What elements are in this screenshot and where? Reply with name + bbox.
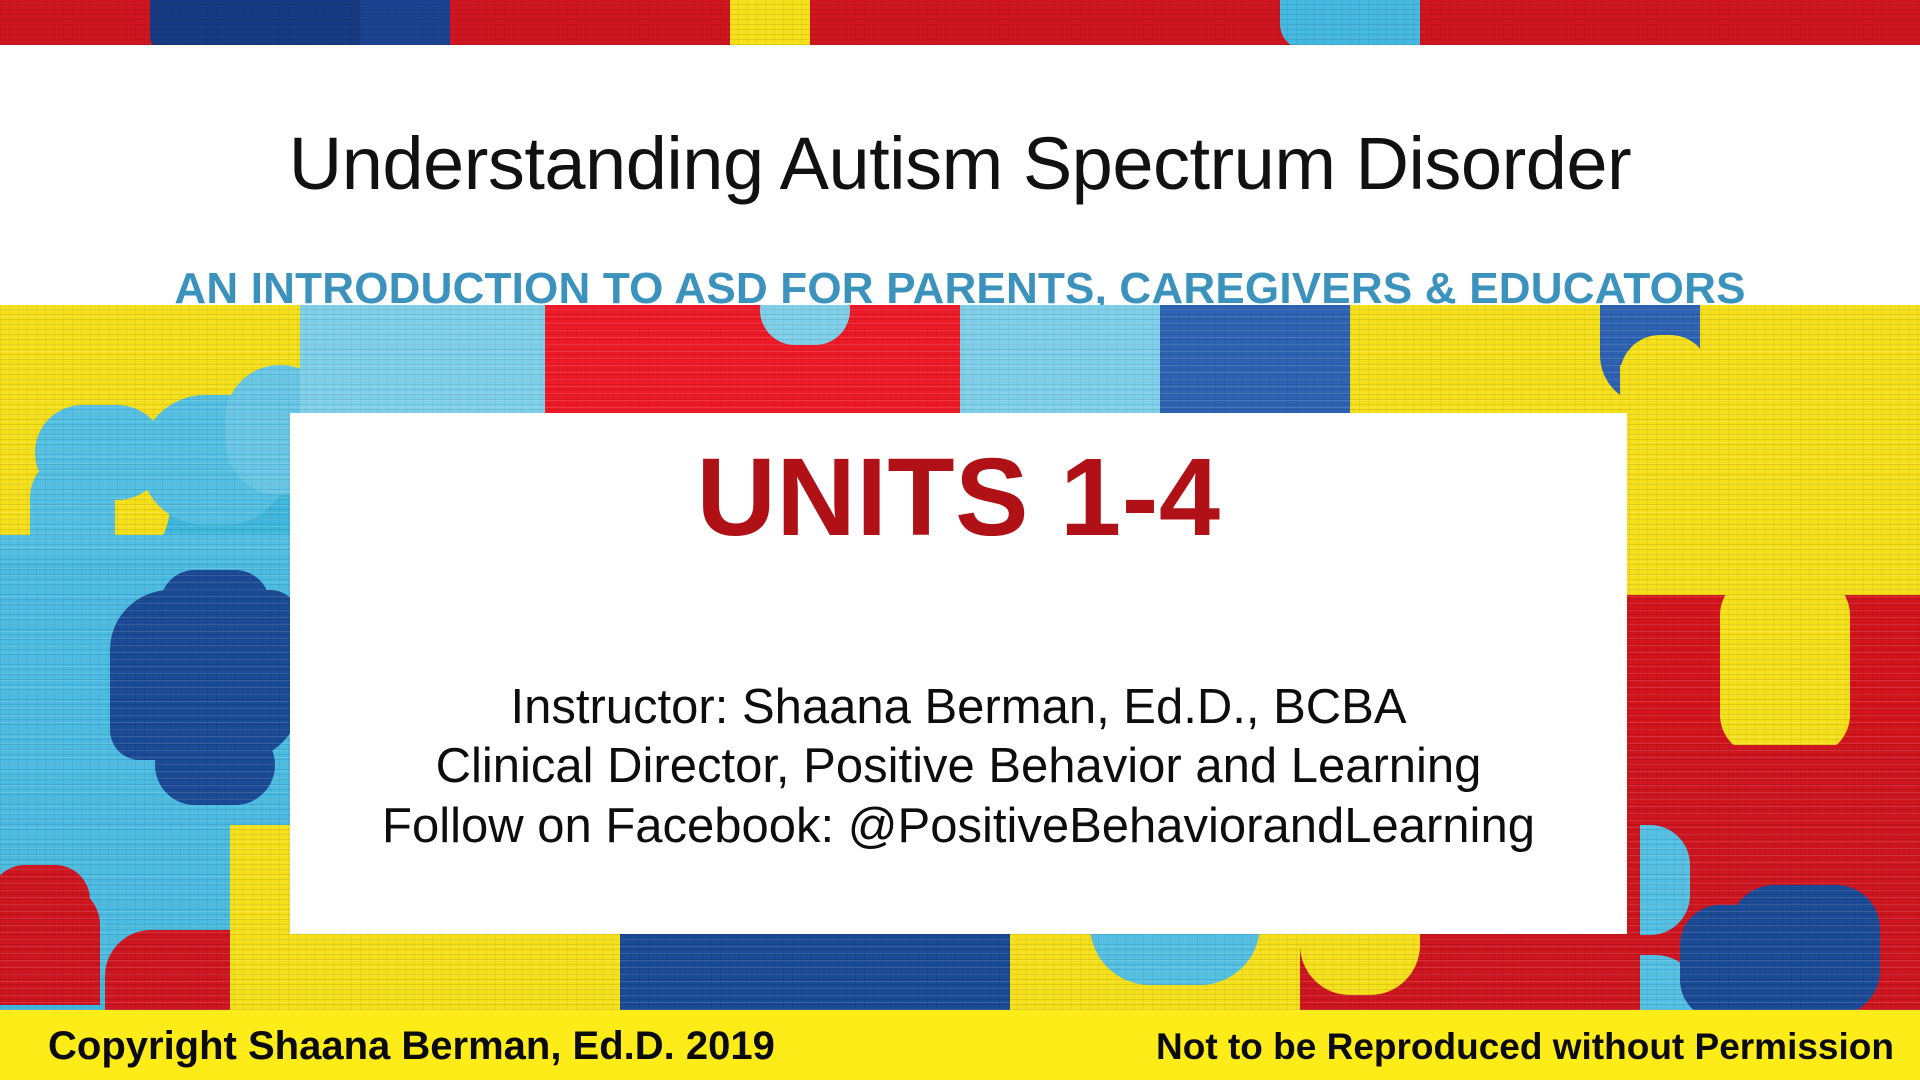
presentation-slide: Understanding Autism Spectrum Disorder A… xyxy=(0,0,1920,1080)
puzzle-piece-yellow xyxy=(1350,305,1630,415)
puzzle-piece-lightcyan xyxy=(300,305,560,415)
puzzle-background: UNITS 1-4 Instructor: Shaana Berman, Ed.… xyxy=(0,305,1920,1010)
units-heading: UNITS 1-4 xyxy=(290,443,1627,553)
puzzle-knob-navy xyxy=(1730,885,1880,1010)
puzzle-piece-lightcyan xyxy=(960,305,1170,415)
puzzle-knob-navy xyxy=(155,725,275,805)
puzzle-knob-navy xyxy=(160,570,270,640)
reproduction-notice: Not to be Reproduced without Permission xyxy=(1156,1028,1894,1065)
content-card: UNITS 1-4 Instructor: Shaana Berman, Ed.… xyxy=(290,413,1627,934)
puzzle-knob-red xyxy=(0,865,90,935)
top-puzzle-strip xyxy=(0,0,1920,45)
copyright-notice: Copyright Shaana Berman, Ed.D. 2019 xyxy=(48,1026,775,1066)
instructor-line: Instructor: Shaana Berman, Ed.D., BCBA xyxy=(290,678,1627,737)
footer-bar: Copyright Shaana Berman, Ed.D. 2019 Not … xyxy=(0,1010,1920,1080)
facebook-line: Follow on Facebook: @PositiveBehaviorand… xyxy=(290,797,1627,856)
page-title: Understanding Autism Spectrum Disorder xyxy=(0,127,1920,201)
puzzle-piece-cyan xyxy=(1330,0,1420,45)
puzzle-knob-yellow xyxy=(1720,575,1850,755)
puzzle-knob-yellow xyxy=(1620,335,1710,415)
title-band: Understanding Autism Spectrum Disorder A… xyxy=(0,45,1920,305)
puzzle-piece-navy xyxy=(1160,305,1360,415)
instructor-info-block: Instructor: Shaana Berman, Ed.D., BCBA C… xyxy=(290,678,1627,856)
puzzle-piece-red xyxy=(545,305,965,415)
puzzle-piece-navy xyxy=(360,0,450,45)
clinical-director-line: Clinical Director, Positive Behavior and… xyxy=(290,737,1627,796)
puzzle-piece-yellow xyxy=(730,0,810,45)
